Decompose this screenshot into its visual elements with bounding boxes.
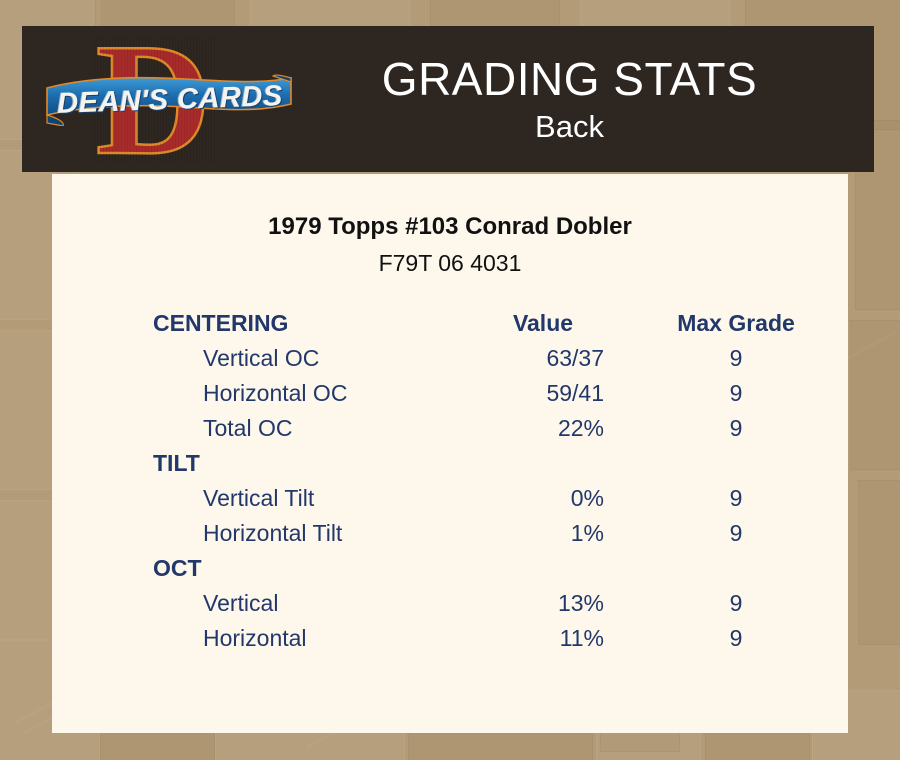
deans-cards-logo[interactable]: D DEAN'S CARDS bbox=[45, 29, 295, 169]
row-value: 13% bbox=[462, 586, 624, 621]
header-titles: GRADING STATS Back bbox=[295, 51, 874, 147]
row-max-grade: 9 bbox=[624, 481, 848, 516]
row-value: 11% bbox=[462, 621, 624, 656]
page-subtitle: Back bbox=[295, 107, 844, 147]
section-spacer-value bbox=[462, 551, 624, 586]
table-row: Vertical Tilt0%9 bbox=[52, 481, 848, 516]
row-label: Total OC bbox=[52, 411, 462, 446]
row-value: 22% bbox=[462, 411, 624, 446]
table-row: Total OC22%9 bbox=[52, 411, 848, 446]
row-label: Vertical Tilt bbox=[52, 481, 462, 516]
row-max-grade: 9 bbox=[624, 341, 848, 376]
logo-banner-text: DEAN'S CARDS bbox=[44, 70, 296, 131]
section-label: OCT bbox=[52, 551, 462, 586]
section-row-tilt: TILT bbox=[52, 446, 848, 481]
row-label: Horizontal OC bbox=[52, 376, 462, 411]
table-row: Vertical OC63/379 bbox=[52, 341, 848, 376]
table-header: CENTERING Value Max Grade bbox=[52, 306, 848, 341]
row-max-grade: 9 bbox=[624, 516, 848, 551]
table-row: Horizontal Tilt1%9 bbox=[52, 516, 848, 551]
grading-stats-table: CENTERING Value Max Grade Vertical OC63/… bbox=[52, 306, 848, 656]
row-max-grade: 9 bbox=[624, 376, 848, 411]
row-max-grade: 9 bbox=[624, 586, 848, 621]
row-label: Horizontal bbox=[52, 621, 462, 656]
table-header-row: CENTERING Value Max Grade bbox=[52, 306, 848, 341]
table-body: Vertical OC63/379Horizontal OC59/419Tota… bbox=[52, 341, 848, 656]
section-label: TILT bbox=[52, 446, 462, 481]
row-label: Vertical bbox=[52, 586, 462, 621]
column-header-grade: Max Grade bbox=[624, 306, 848, 341]
row-label: Vertical OC bbox=[52, 341, 462, 376]
column-header-value: Value bbox=[462, 306, 624, 341]
table-row: Horizontal OC59/419 bbox=[52, 376, 848, 411]
row-label: Horizontal Tilt bbox=[52, 516, 462, 551]
card-serial-number: F79T 06 4031 bbox=[52, 248, 848, 278]
section-spacer-value bbox=[462, 446, 624, 481]
row-max-grade: 9 bbox=[624, 411, 848, 446]
section-spacer-grade bbox=[624, 551, 848, 586]
section-row-oct: OCT bbox=[52, 551, 848, 586]
card-title: 1979 Topps #103 Conrad Dobler bbox=[52, 212, 848, 242]
page-title: GRADING STATS bbox=[295, 51, 844, 107]
row-value: 0% bbox=[462, 481, 624, 516]
row-value: 63/37 bbox=[462, 341, 624, 376]
table-row: Horizontal11%9 bbox=[52, 621, 848, 656]
row-value: 1% bbox=[462, 516, 624, 551]
row-value: 59/41 bbox=[462, 376, 624, 411]
content-panel: 1979 Topps #103 Conrad Dobler F79T 06 40… bbox=[52, 174, 848, 733]
column-header-section: CENTERING bbox=[52, 306, 462, 341]
row-max-grade: 9 bbox=[624, 621, 848, 656]
table-row: Vertical13%9 bbox=[52, 586, 848, 621]
section-spacer-grade bbox=[624, 446, 848, 481]
header-bar: D DEAN'S CARDS GRADING STATS Back bbox=[22, 26, 874, 172]
